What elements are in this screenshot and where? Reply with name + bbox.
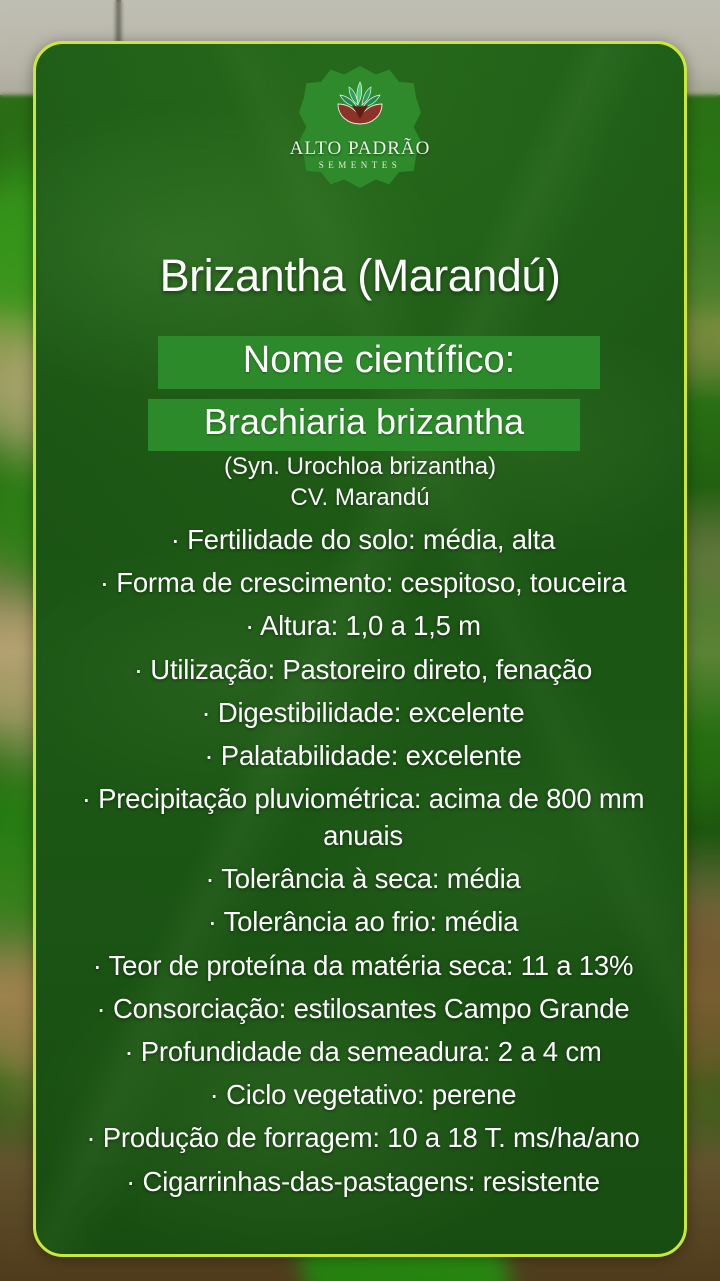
list-item: · Precipitação pluviométrica: acima de 8… bbox=[52, 781, 674, 854]
list-item: · Fertilidade do solo: média, alta bbox=[52, 522, 674, 559]
poster-canvas: ALTO PADRÃO SEMENTES Brizantha (Marandú)… bbox=[0, 0, 720, 1281]
list-item: · Altura: 1,0 a 1,5 m bbox=[52, 608, 674, 645]
cultivar-line: CV. Marandú bbox=[36, 483, 684, 514]
brand-logo: ALTO PADRÃO SEMENTES bbox=[285, 60, 435, 195]
info-card: ALTO PADRÃO SEMENTES Brizantha (Marandú)… bbox=[33, 41, 687, 1257]
logo-brand-name: ALTO PADRÃO bbox=[285, 138, 435, 160]
leaf-seed-emblem-icon bbox=[332, 78, 388, 126]
list-item: · Digestibilidade: excelente bbox=[52, 695, 674, 732]
list-item: · Utilização: Pastoreiro direto, fenação bbox=[52, 652, 674, 689]
list-item: · Tolerância ao frio: média bbox=[52, 904, 674, 941]
scientific-name-value: Brachiaria brizantha bbox=[148, 399, 580, 451]
list-item: · Tolerância à seca: média bbox=[52, 861, 674, 898]
list-item: · Produção de forragem: 10 a 18 T. ms/ha… bbox=[52, 1120, 674, 1157]
scientific-name-label: Nome científico: bbox=[158, 336, 600, 389]
synonym-block: (Syn. Urochloa brizantha) CV. Marandú bbox=[36, 452, 684, 513]
list-item: · Forma de crescimento: cespitoso, touce… bbox=[52, 565, 674, 602]
page-title: Brizantha (Marandú) bbox=[36, 250, 684, 302]
list-item: · Ciclo vegetativo: perene bbox=[52, 1077, 674, 1114]
fact-list: · Fertilidade do solo: média, alta · For… bbox=[52, 522, 674, 1207]
list-item: · Teor de proteína da matéria seca: 11 a… bbox=[52, 948, 674, 985]
list-item: · Cigarrinhas-das-pastagens: resistente bbox=[52, 1164, 674, 1201]
list-item: · Consorciação: estilosantes Campo Grand… bbox=[52, 991, 674, 1028]
list-item: · Palatabilidade: excelente bbox=[52, 738, 674, 775]
logo-tagline: SEMENTES bbox=[285, 160, 435, 170]
list-item: · Profundidade da semeadura: 2 a 4 cm bbox=[52, 1034, 674, 1071]
synonym-line: (Syn. Urochloa brizantha) bbox=[36, 452, 684, 483]
